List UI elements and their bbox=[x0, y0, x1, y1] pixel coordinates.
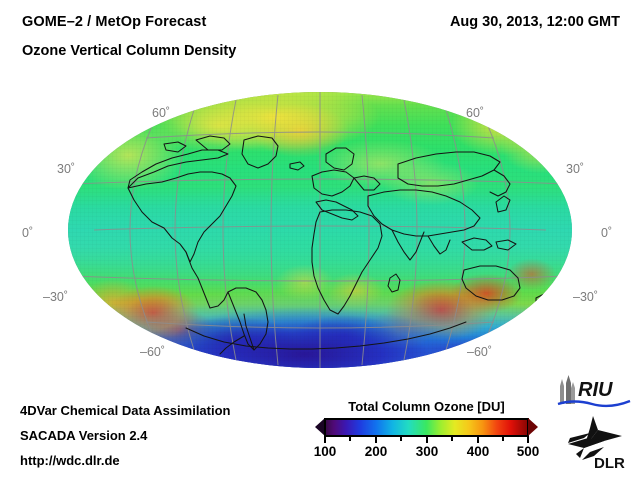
colorbar-tick-250 bbox=[400, 437, 402, 441]
lat-label-right-30: 30˚ bbox=[566, 162, 584, 176]
page-title: Ozone Vertical Column Density bbox=[22, 43, 236, 59]
riu-logo-text: RIU bbox=[578, 379, 613, 401]
globe-projection bbox=[68, 92, 572, 368]
lat-label-right-60: 60˚ bbox=[466, 106, 484, 120]
lat-label-right-neg30: –30˚ bbox=[573, 290, 598, 304]
ozone-field-raster bbox=[68, 92, 572, 368]
colorbar-tick-labels: 100 200 300 400 500 bbox=[324, 444, 529, 462]
coastline-overlay bbox=[68, 92, 572, 368]
lat-label-left-60: 60˚ bbox=[152, 106, 170, 120]
colorbar-tick-300 bbox=[426, 437, 428, 443]
colorbar-tick-400 bbox=[477, 437, 479, 443]
colorbar-title: Total Column Ozone [DU] bbox=[315, 399, 538, 414]
dlr-logo: DLR bbox=[560, 414, 630, 472]
colorbar-high-arrow-cap bbox=[528, 418, 538, 436]
riu-cathedral-towers-icon bbox=[560, 375, 575, 404]
dlr-pinwheel-icon bbox=[568, 416, 622, 460]
colorbar-tick-100 bbox=[324, 437, 326, 443]
colorbar-label-300: 300 bbox=[416, 444, 439, 459]
colorbar-tick-500 bbox=[527, 437, 529, 443]
footer-version-line: SACADA Version 2.4 bbox=[20, 428, 147, 443]
colorbar-gradient bbox=[324, 418, 529, 437]
dlr-logo-text: DLR bbox=[594, 455, 625, 472]
colorbar-tick-200 bbox=[375, 437, 377, 443]
lat-label-right-neg60: –60˚ bbox=[467, 345, 492, 359]
colorbar-label-200: 200 bbox=[365, 444, 388, 459]
colorbar-tick-350 bbox=[451, 437, 453, 441]
observation-datetime: Aug 30, 2013, 12:00 GMT bbox=[450, 14, 620, 30]
lat-label-left-30: 30˚ bbox=[57, 162, 75, 176]
colorbar-ticks bbox=[324, 437, 529, 443]
footer-url-line: http://wdc.dlr.de bbox=[20, 453, 120, 468]
colorbar-label-100: 100 bbox=[314, 444, 337, 459]
colorbar-label-400: 400 bbox=[467, 444, 490, 459]
colorbar-label-500: 500 bbox=[517, 444, 540, 459]
ozone-map-figure: GOME–2 / MetOp Forecast Aug 30, 2013, 12… bbox=[0, 0, 640, 480]
lat-label-left-neg60: –60˚ bbox=[140, 345, 165, 359]
colorbar-tick-150 bbox=[349, 437, 351, 441]
lat-label-right-0: 0˚ bbox=[601, 226, 612, 240]
map-panel: 60˚ 30˚ 0˚ –30˚ –60˚ 60˚ 30˚ 0˚ –30˚ –60… bbox=[0, 80, 640, 380]
colorbar-tick-450 bbox=[502, 437, 504, 441]
footer-method-line: 4DVar Chemical Data Assimilation bbox=[20, 403, 231, 418]
riu-logo: RIU bbox=[554, 374, 632, 408]
lat-label-left-0: 0˚ bbox=[22, 226, 33, 240]
lat-label-left-neg30: –30˚ bbox=[43, 290, 68, 304]
colorbar bbox=[315, 418, 538, 437]
instrument-title: GOME–2 / MetOp Forecast bbox=[22, 14, 206, 30]
